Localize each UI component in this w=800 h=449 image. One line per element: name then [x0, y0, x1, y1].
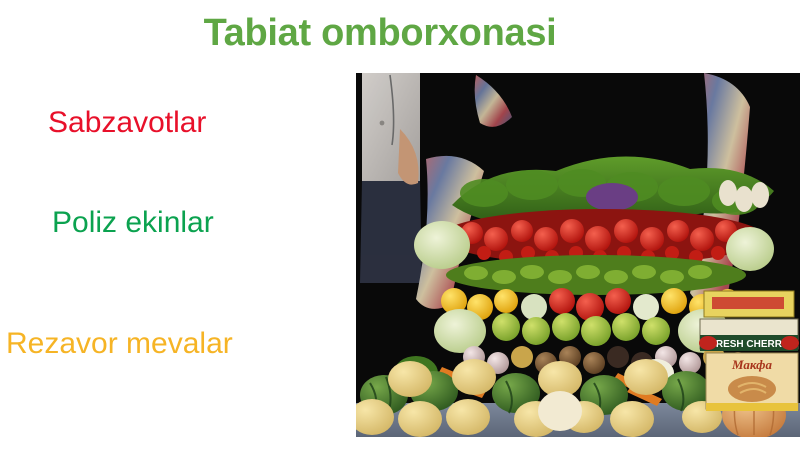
svg-text:Макфа: Макфа [731, 357, 772, 372]
photo-artwork: FRESH CHERRY Макфа [356, 73, 800, 437]
page-title: Tabiat omborxonasi [0, 12, 760, 55]
bullet-item-poliz-ekinlar: Poliz ekinlar [52, 206, 214, 239]
vegetable-market-display-photo: FRESH CHERRY Макфа [356, 73, 800, 437]
makfa-carton: Макфа [706, 353, 798, 411]
svg-text:FRESH CHERRY: FRESH CHERRY [710, 339, 789, 350]
fresh-cherry-carton: FRESH CHERRY [699, 291, 799, 351]
slide-canvas: Tabiat omborxonasi Sabzavotlar Poliz eki… [0, 0, 800, 449]
bullet-item-sabzavotlar: Sabzavotlar [48, 106, 206, 139]
bullet-item-rezavor-mevalar: Rezavor mevalar [6, 327, 233, 360]
